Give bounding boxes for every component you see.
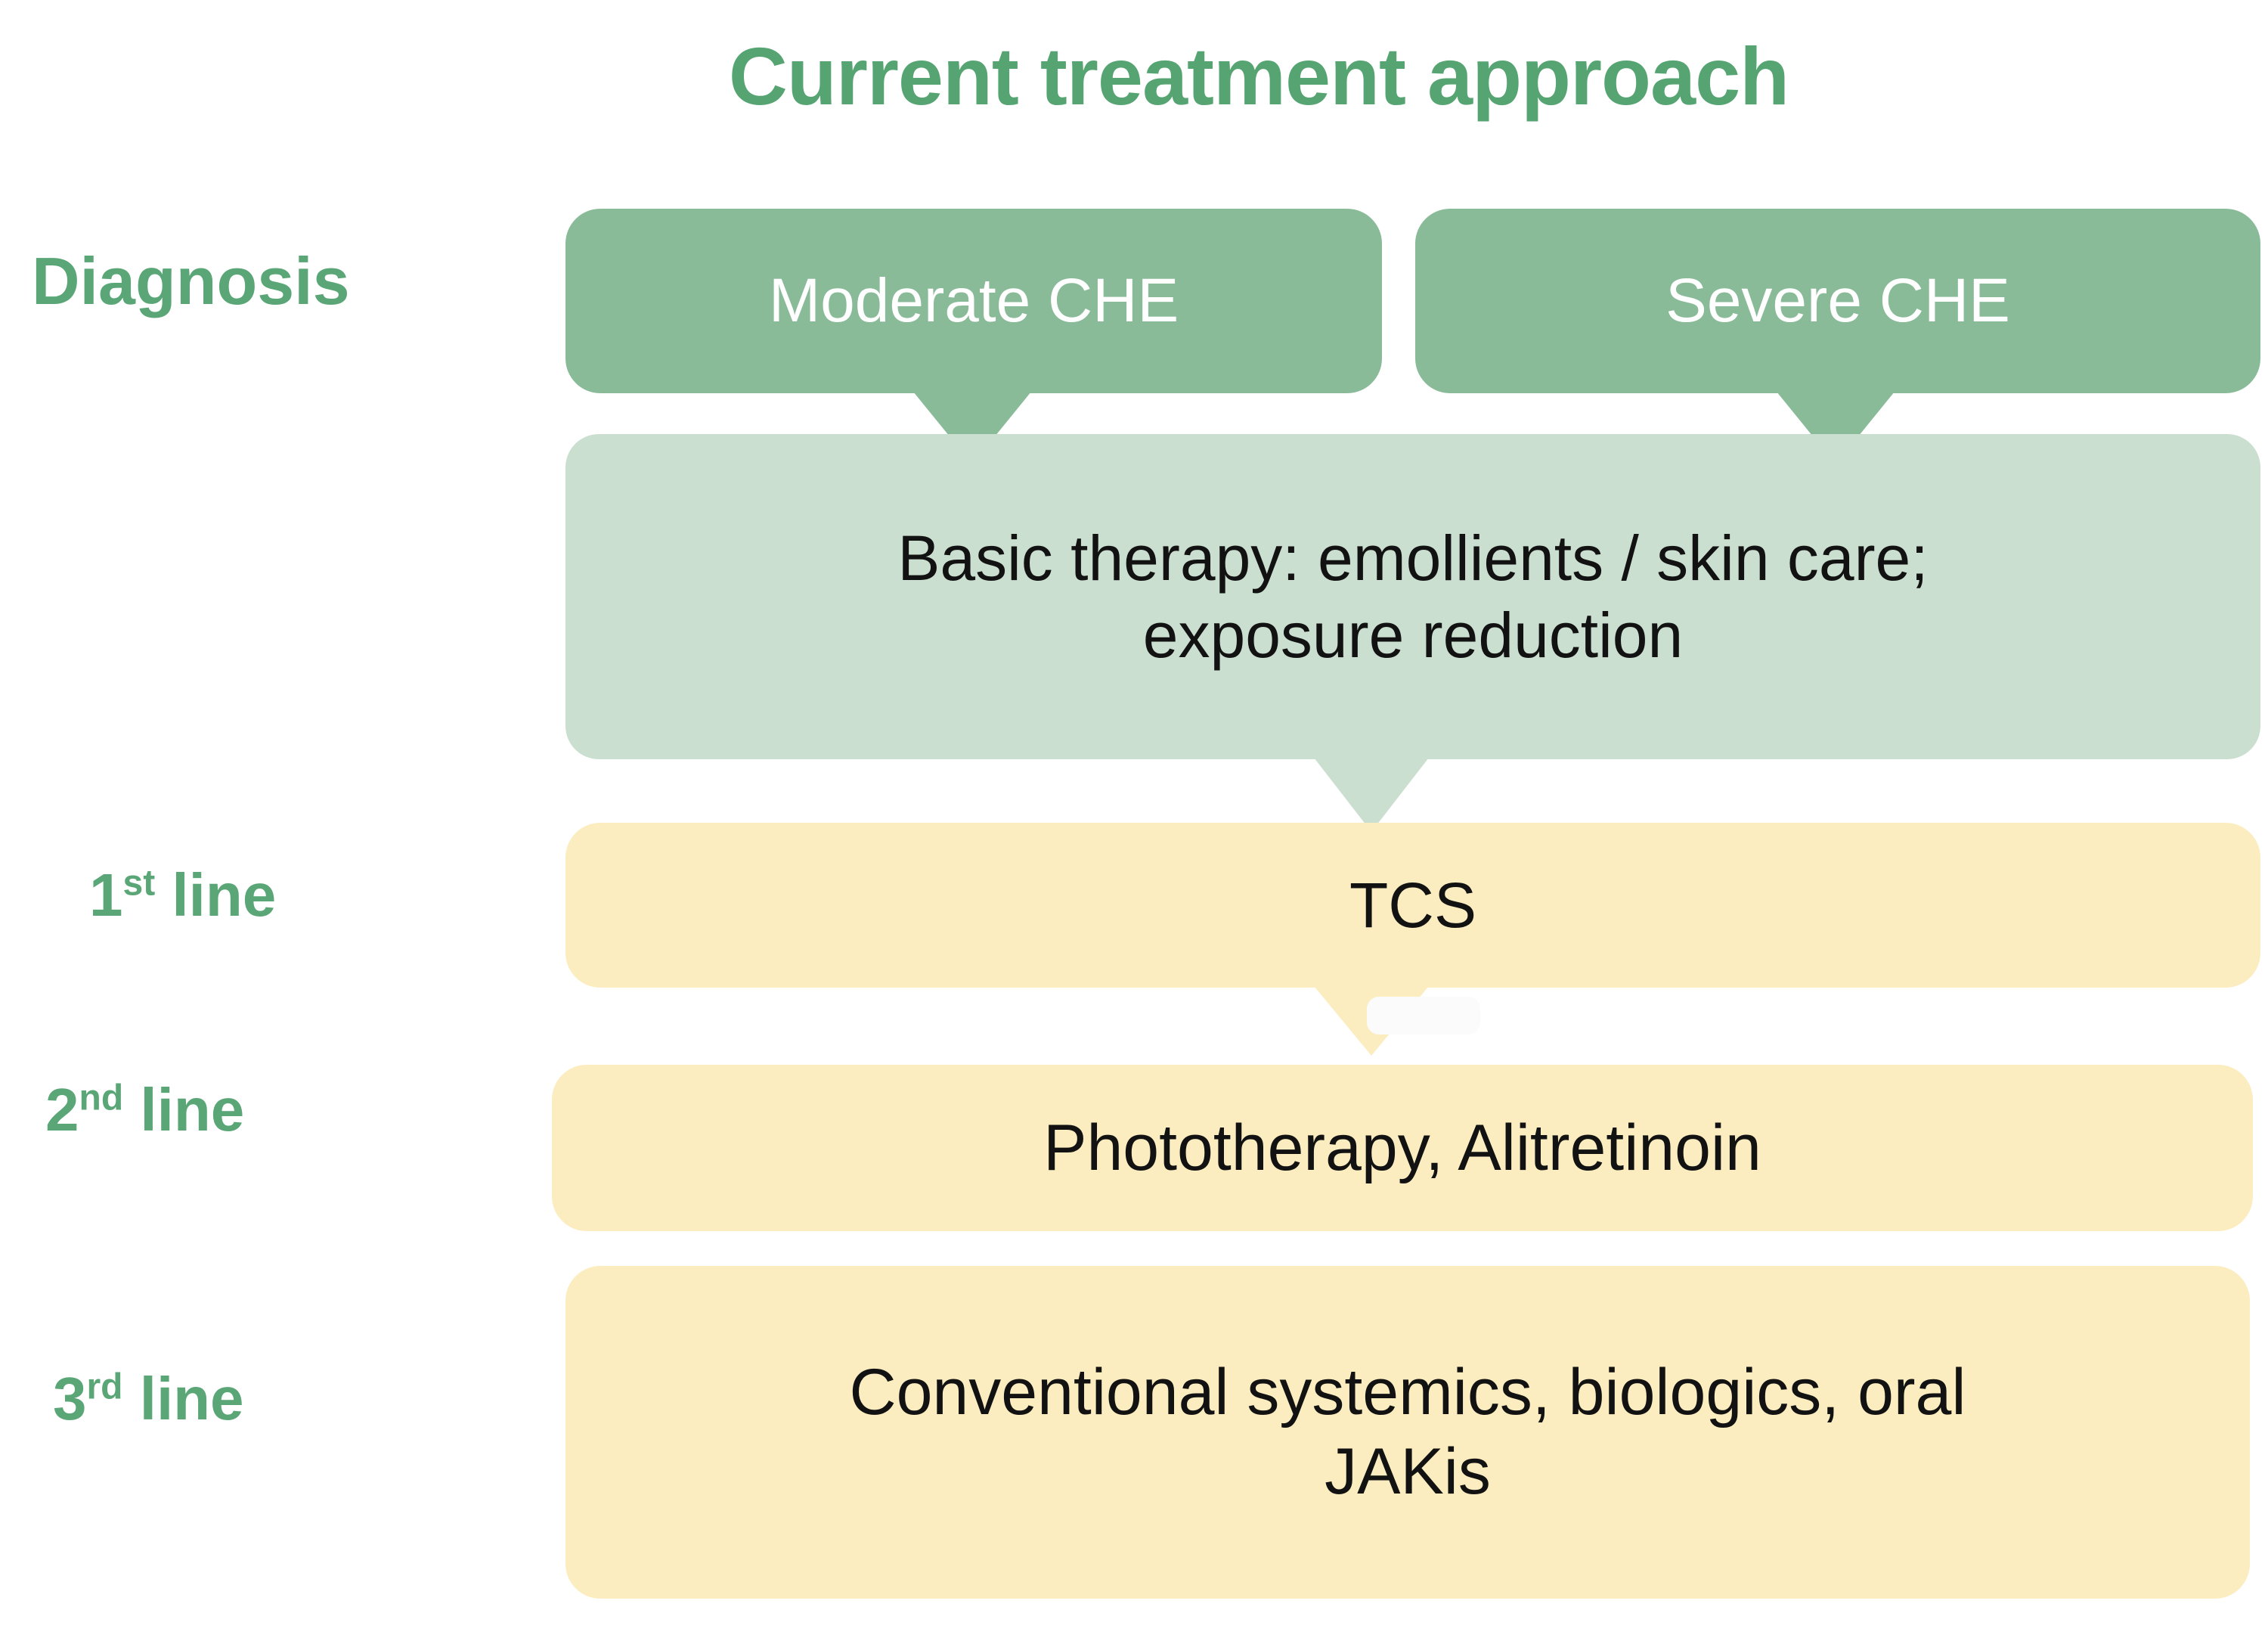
- diagnosis-box-severe-label: Severe CHE: [1415, 263, 2260, 339]
- diagnosis-box-moderate-label: Moderate CHE: [565, 263, 1382, 339]
- basic-therapy-line-2: exposure reduction: [1143, 600, 1683, 671]
- row-label-third-line: 3rd line: [53, 1369, 244, 1429]
- row-label-second-line-number: 2: [45, 1076, 79, 1143]
- arrow-down-icon-basic-therapy: [1314, 758, 1429, 832]
- basic-therapy-box: Basic therapy: emollients / skin care; e…: [565, 434, 2260, 759]
- white-overlay-artifact: [1367, 997, 1480, 1034]
- row-label-third-line-number: 3: [53, 1365, 87, 1432]
- row-label-second-line-suffix: line: [123, 1076, 244, 1143]
- third-line-text-1: Conventional systemics, biologics, oral: [850, 1356, 1966, 1428]
- first-line-label: TCS: [565, 867, 2260, 944]
- second-line-box: Phototherapy, Alitretinoin: [552, 1065, 2253, 1231]
- treatment-algorithm-diagram: Current treatment approach Diagnosis 1st…: [0, 0, 2268, 1644]
- row-label-third-line-suffix: line: [123, 1365, 244, 1432]
- diagnosis-box-moderate: Moderate CHE: [565, 209, 1382, 393]
- row-label-diagnosis: Diagnosis: [32, 248, 350, 315]
- basic-therapy-line-1: Basic therapy: emollients / skin care;: [897, 523, 1928, 594]
- row-label-second-line-ordinal: nd: [79, 1078, 124, 1118]
- third-line-text-2: JAKis: [1325, 1435, 1491, 1508]
- third-line-box: Conventional systemics, biologics, oral …: [565, 1266, 2250, 1599]
- row-label-third-line-ordinal: rd: [87, 1366, 123, 1407]
- row-label-first-line-suffix: line: [155, 861, 276, 929]
- row-label-first-line-number: 1: [89, 861, 123, 929]
- diagnosis-box-severe: Severe CHE: [1415, 209, 2260, 393]
- third-line-text: Conventional systemics, biologics, oral …: [565, 1353, 2250, 1512]
- row-label-first-line: 1st line: [89, 865, 276, 926]
- second-line-label: Phototherapy, Alitretinoin: [552, 1109, 2253, 1188]
- page-title: Current treatment approach: [0, 29, 2268, 123]
- first-line-box: TCS: [565, 823, 2260, 988]
- basic-therapy-text: Basic therapy: emollients / skin care; e…: [565, 520, 2260, 675]
- row-label-first-line-ordinal: st: [123, 863, 156, 903]
- row-label-second-line: 2nd line: [45, 1080, 244, 1140]
